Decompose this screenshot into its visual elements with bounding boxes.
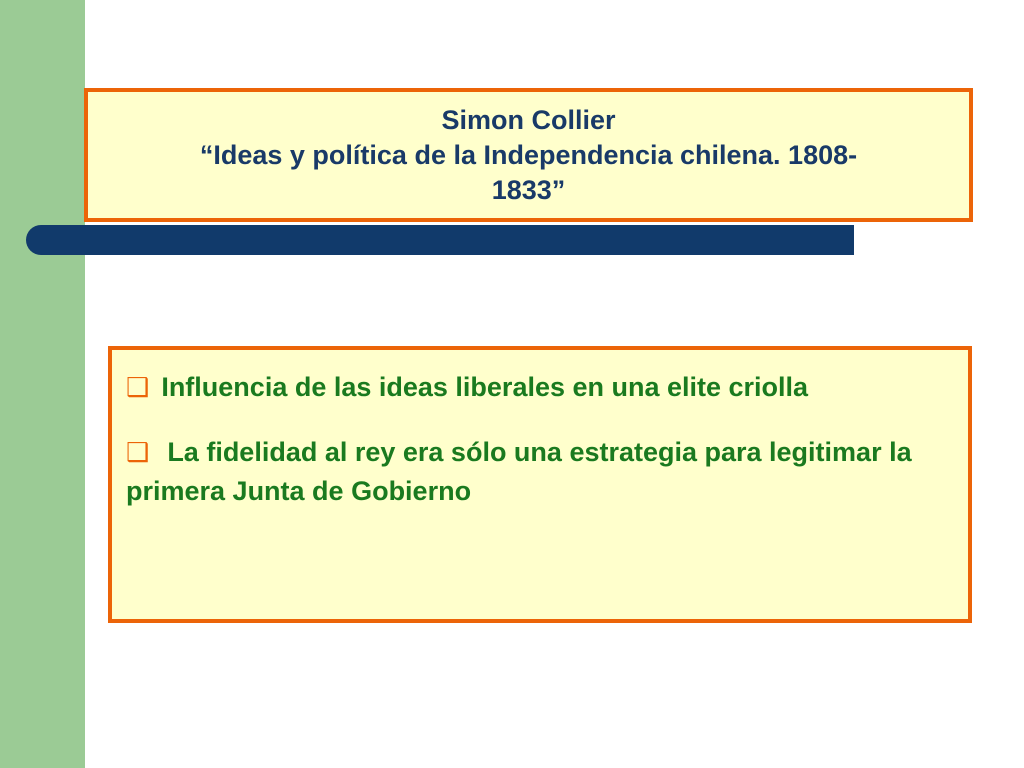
list-item-label: Influencia de las ideas liberales en una… bbox=[161, 372, 808, 402]
page-title: Simon Collier “Ideas y política de la In… bbox=[88, 103, 969, 208]
decorative-green-band bbox=[0, 0, 85, 768]
content-box: ❑Influencia de las ideas liberales en un… bbox=[108, 346, 972, 623]
square-bullet-icon: ❑ bbox=[126, 372, 149, 402]
title-line-2: “Ideas y política de la Independencia ch… bbox=[94, 138, 963, 173]
list-item: ❑Influencia de las ideas liberales en un… bbox=[120, 368, 952, 407]
list-item: ❑La fidelidad al rey era sólo una estrat… bbox=[120, 433, 952, 511]
list-item-label: La fidelidad al rey era sólo una estrate… bbox=[126, 437, 912, 506]
title-line-3: 1833” bbox=[94, 173, 963, 208]
title-line-1: Simon Collier bbox=[94, 103, 963, 138]
square-bullet-icon: ❑ bbox=[126, 437, 149, 467]
presentation-slide: Simon Collier “Ideas y política de la In… bbox=[0, 0, 1024, 768]
title-box: Simon Collier “Ideas y política de la In… bbox=[84, 88, 973, 222]
decorative-navy-bar bbox=[26, 225, 854, 255]
